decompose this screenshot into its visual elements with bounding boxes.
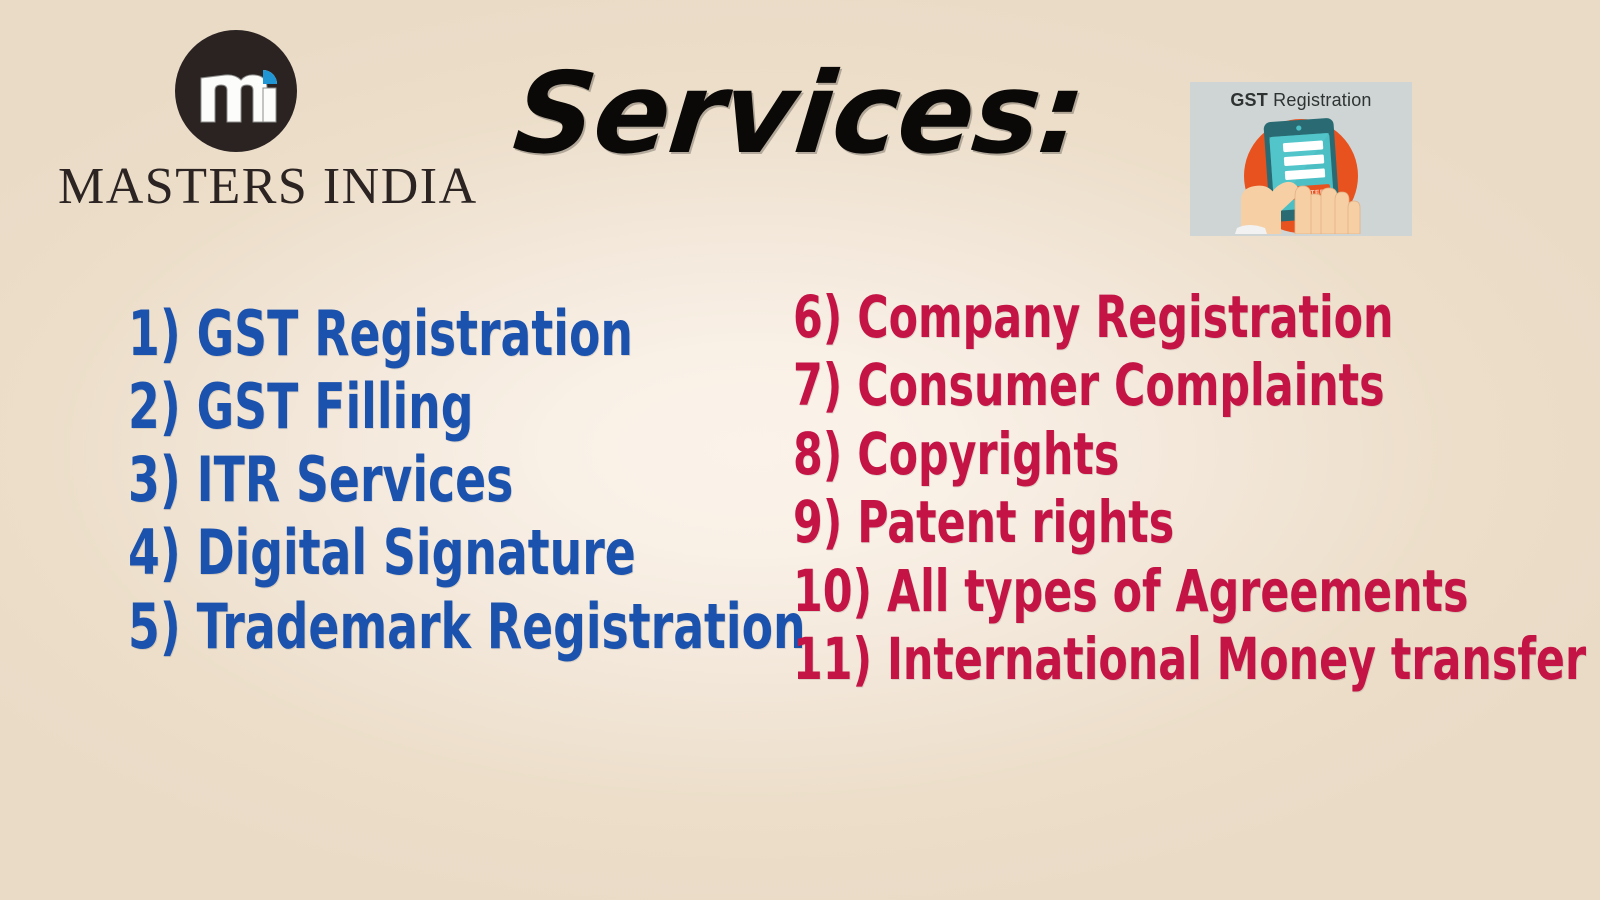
list-item: 3) ITR Services [128, 443, 806, 516]
list-item: 5) Trademark Registration [128, 590, 806, 663]
list-item: 10) All types of Agreements [793, 557, 1586, 625]
list-item: 6) Company Registration [793, 283, 1586, 351]
list-item: 7) Consumer Complaints [793, 351, 1586, 419]
brand-logo-block: MASTERS INDIA [58, 22, 420, 222]
gst-card-caption: GST Registration [1190, 90, 1412, 111]
list-item: 9) Patent rights [793, 488, 1586, 556]
gst-registration-illustration-icon: REGISTER [1211, 116, 1391, 236]
list-item: 8) Copyrights [793, 420, 1586, 488]
list-item: 1) GST Registration [128, 297, 806, 370]
list-item: 11) International Money transfer [793, 625, 1586, 693]
gst-caption-bold: GST [1230, 90, 1268, 110]
page-title: Services: [509, 58, 1081, 170]
gst-registration-image-card: GST Registration [1190, 82, 1412, 236]
services-list-right: 6) Company Registration 7) Consumer Comp… [793, 283, 1600, 694]
slide-canvas: MASTERS INDIA Services: GST Registration [0, 0, 1600, 900]
masters-india-logo-icon [175, 30, 297, 152]
list-item: 2) GST Filling [128, 370, 806, 443]
gst-caption-regular: Registration [1268, 90, 1372, 110]
brand-wordmark: MASTERS INDIA [58, 160, 420, 215]
list-item: 4) Digital Signature [128, 516, 806, 589]
